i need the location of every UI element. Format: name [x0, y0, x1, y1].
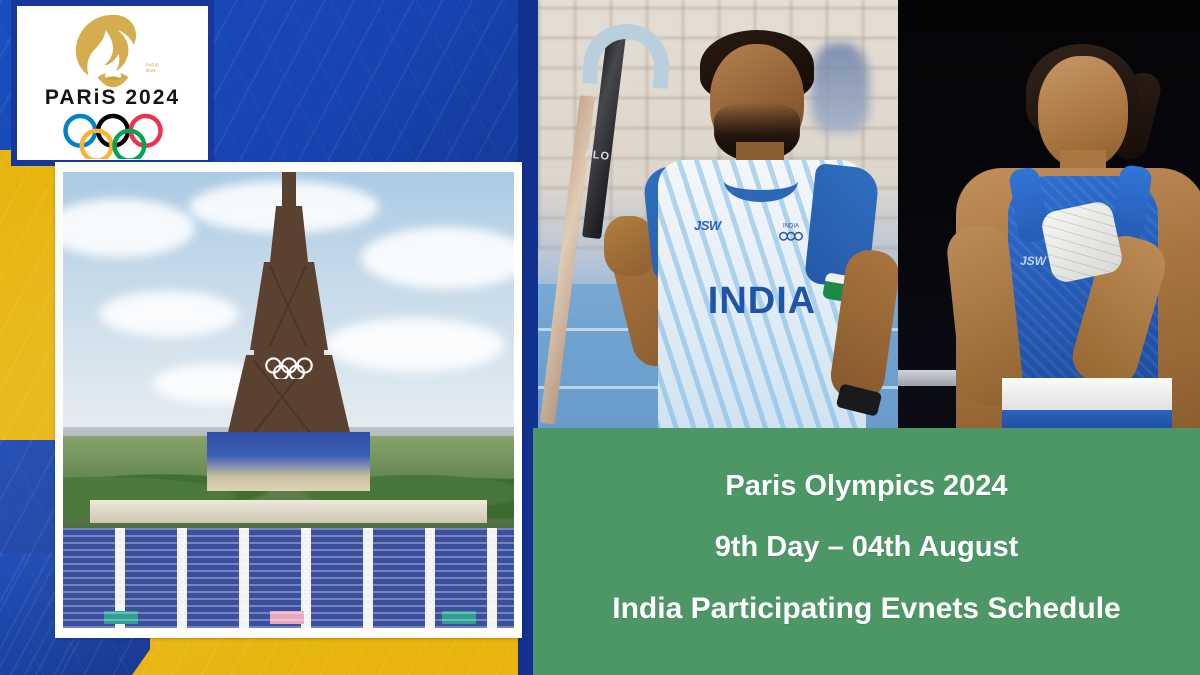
boxer-hand-wrap — [1039, 199, 1124, 284]
eiffel-tower-photo-card — [55, 162, 522, 638]
seating-sign — [442, 611, 476, 624]
india-boxer-photo: JSW — [898, 0, 1200, 430]
boxer-shorts — [1002, 410, 1172, 430]
india-team-emblem-icon: INDIA — [776, 218, 806, 244]
svg-text:2024: 2024 — [145, 68, 156, 73]
cloud-shape — [63, 199, 195, 257]
marianne-flame-icon: PARIS 2024 — [67, 12, 159, 90]
svg-text:INDIA: INDIA — [783, 223, 799, 229]
svg-text:PARIS: PARIS — [145, 62, 158, 67]
logo-wordmark: PARiS 2024 — [45, 86, 180, 110]
paris-2024-logo-card: PARIS 2024 PARiS 2024 — [11, 0, 214, 166]
eiffel-tower-photo — [63, 172, 514, 628]
headline-subtitle: India Participating Evnets Schedule — [612, 592, 1120, 626]
boxer-waistband — [1002, 378, 1172, 414]
olympic-rings-icon — [59, 113, 167, 159]
hockey-stick-brand-text: FLO — [584, 149, 601, 162]
blurred-spectator — [811, 43, 869, 133]
seating-sign — [270, 611, 304, 624]
poster-stage: PARIS 2024 PARiS 2024 — [0, 0, 1200, 675]
india-hockey-player-photo: FLO JSW INDIA INDIA — [538, 0, 898, 430]
olympic-plaza-stage — [207, 432, 369, 491]
terrace-walkway — [90, 500, 487, 523]
jsw-sponsor-logo: JSW — [1020, 254, 1046, 268]
jsw-sponsor-logo: JSW — [694, 218, 721, 233]
headline-day-date: 9th Day – 04th August — [715, 531, 1018, 564]
headline-panel: Paris Olympics 2024 9th Day – 04th Augus… — [533, 428, 1200, 675]
stadium-seating-stands — [63, 528, 514, 628]
jersey-collar — [724, 158, 798, 202]
headline-title: Paris Olympics 2024 — [725, 470, 1007, 503]
seating-sign — [104, 611, 138, 624]
eiffel-olympic-rings-icon — [257, 357, 321, 379]
